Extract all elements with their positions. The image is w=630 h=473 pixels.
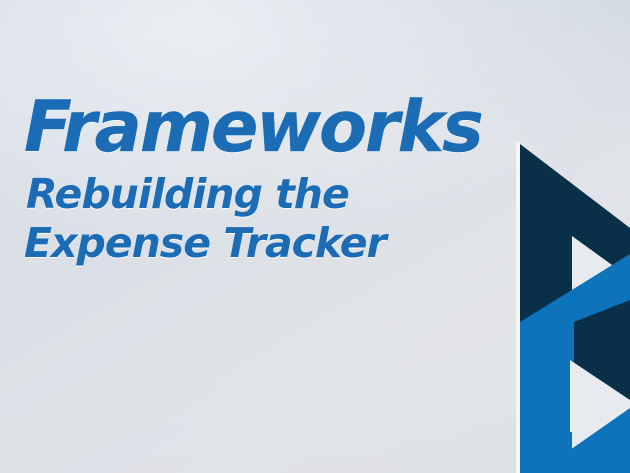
page-title: Frameworks — [24, 92, 502, 162]
brand-b-mark-icon — [512, 132, 630, 473]
logo-edge-highlight — [516, 142, 520, 473]
brand-logo-mark — [512, 132, 630, 473]
subtitle-line-2: Expense Tracker — [24, 223, 502, 264]
title-text-block: Frameworks Rebuilding the Expense Tracke… — [22, 92, 502, 264]
title-card: Frameworks Rebuilding the Expense Tracke… — [0, 0, 630, 473]
subtitle-line-1: Rebuilding the — [26, 174, 502, 215]
logo-bottom-bright-fill — [520, 432, 572, 473]
